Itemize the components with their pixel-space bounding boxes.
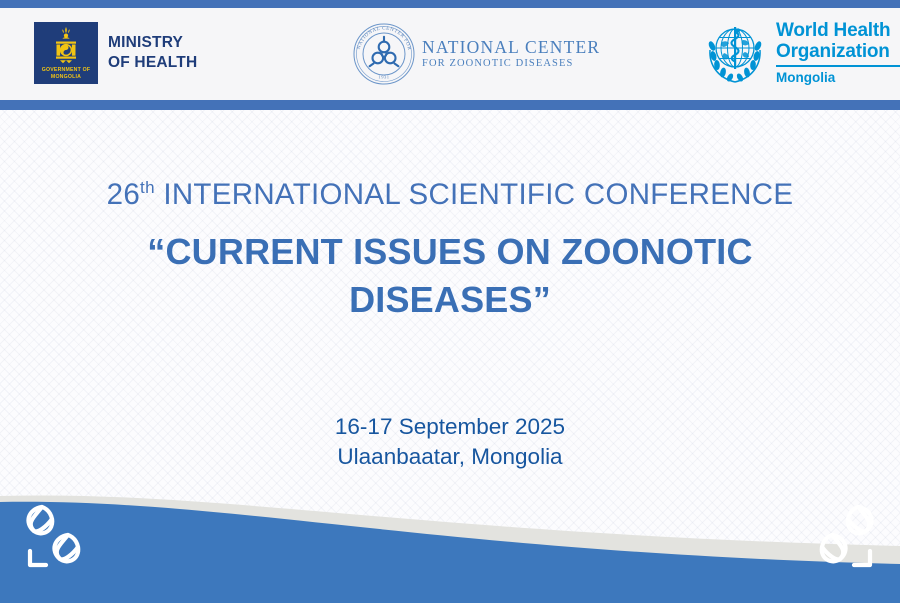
mongolian-knot-ornament-right bbox=[802, 499, 884, 575]
conference-title-slide: GOVERNMENT OF MONGOLIA MINISTRY OF HEALT… bbox=[0, 0, 900, 603]
who-title-line2: Organization bbox=[776, 41, 900, 62]
who-divider-rule bbox=[776, 65, 900, 67]
who-wordmark: World Health Organization Mongolia bbox=[776, 20, 900, 85]
emblem-caption-line1: GOVERNMENT OF bbox=[34, 67, 98, 74]
who-country-label: Mongolia bbox=[776, 70, 900, 85]
conference-meta: 16-17 September 2025 Ulaanbaatar, Mongol… bbox=[0, 412, 900, 472]
nczd-title-line1: NATIONAL CENTER bbox=[422, 37, 600, 57]
conference-ordinal-suffix: th bbox=[140, 178, 155, 197]
bottom-wave-decoration bbox=[0, 468, 900, 603]
mongolian-knot-ornament-left bbox=[16, 499, 98, 575]
who-title-line1: World Health bbox=[776, 20, 900, 41]
header-divider-bar bbox=[0, 100, 900, 110]
ministry-of-health-wordmark: MINISTRY OF HEALTH bbox=[108, 33, 197, 73]
svg-text:1931: 1931 bbox=[378, 75, 389, 80]
nczd-seal-icon: NATIONAL CENTER FOR ZOONOTIC DISEASES 19… bbox=[352, 22, 416, 86]
svg-text:NATIONAL CENTER FOR ZOONOTIC D: NATIONAL CENTER FOR ZOONOTIC DISEASES bbox=[352, 22, 412, 53]
moh-title-line1: MINISTRY bbox=[108, 33, 197, 53]
conference-title-text: INTERNATIONAL SCIENTIFIC CONFERENCE bbox=[155, 178, 794, 211]
nczd-wordmark: NATIONAL CENTER FOR ZOONOTIC DISEASES bbox=[422, 37, 600, 71]
conference-number: 26 bbox=[107, 178, 140, 211]
top-accent-bar bbox=[0, 0, 900, 8]
mongolia-government-emblem: GOVERNMENT OF MONGOLIA bbox=[34, 22, 98, 84]
soyombo-icon bbox=[49, 26, 83, 66]
emblem-caption: GOVERNMENT OF MONGOLIA bbox=[34, 67, 98, 81]
who-emblem-icon bbox=[702, 20, 768, 86]
emblem-caption-line2: MONGOLIA bbox=[34, 74, 98, 81]
moh-title-line2: OF HEALTH bbox=[108, 53, 197, 73]
conference-dates: 16-17 September 2025 bbox=[0, 412, 900, 442]
logo-national-center-zoonotic-diseases: NATIONAL CENTER FOR ZOONOTIC DISEASES 19… bbox=[352, 22, 600, 86]
conference-number-title: 26th INTERNATIONAL SCIENTIFIC CONFERENCE bbox=[0, 178, 900, 212]
nczd-title-line2: FOR ZOONOTIC DISEASES bbox=[422, 57, 600, 71]
conference-theme-title: “CURRENT ISSUES ON ZOONOTIC DISEASES” bbox=[90, 228, 810, 324]
logo-world-health-organization: World Health Organization Mongolia bbox=[702, 20, 900, 86]
logo-ministry-of-health: GOVERNMENT OF MONGOLIA MINISTRY OF HEALT… bbox=[34, 22, 197, 84]
